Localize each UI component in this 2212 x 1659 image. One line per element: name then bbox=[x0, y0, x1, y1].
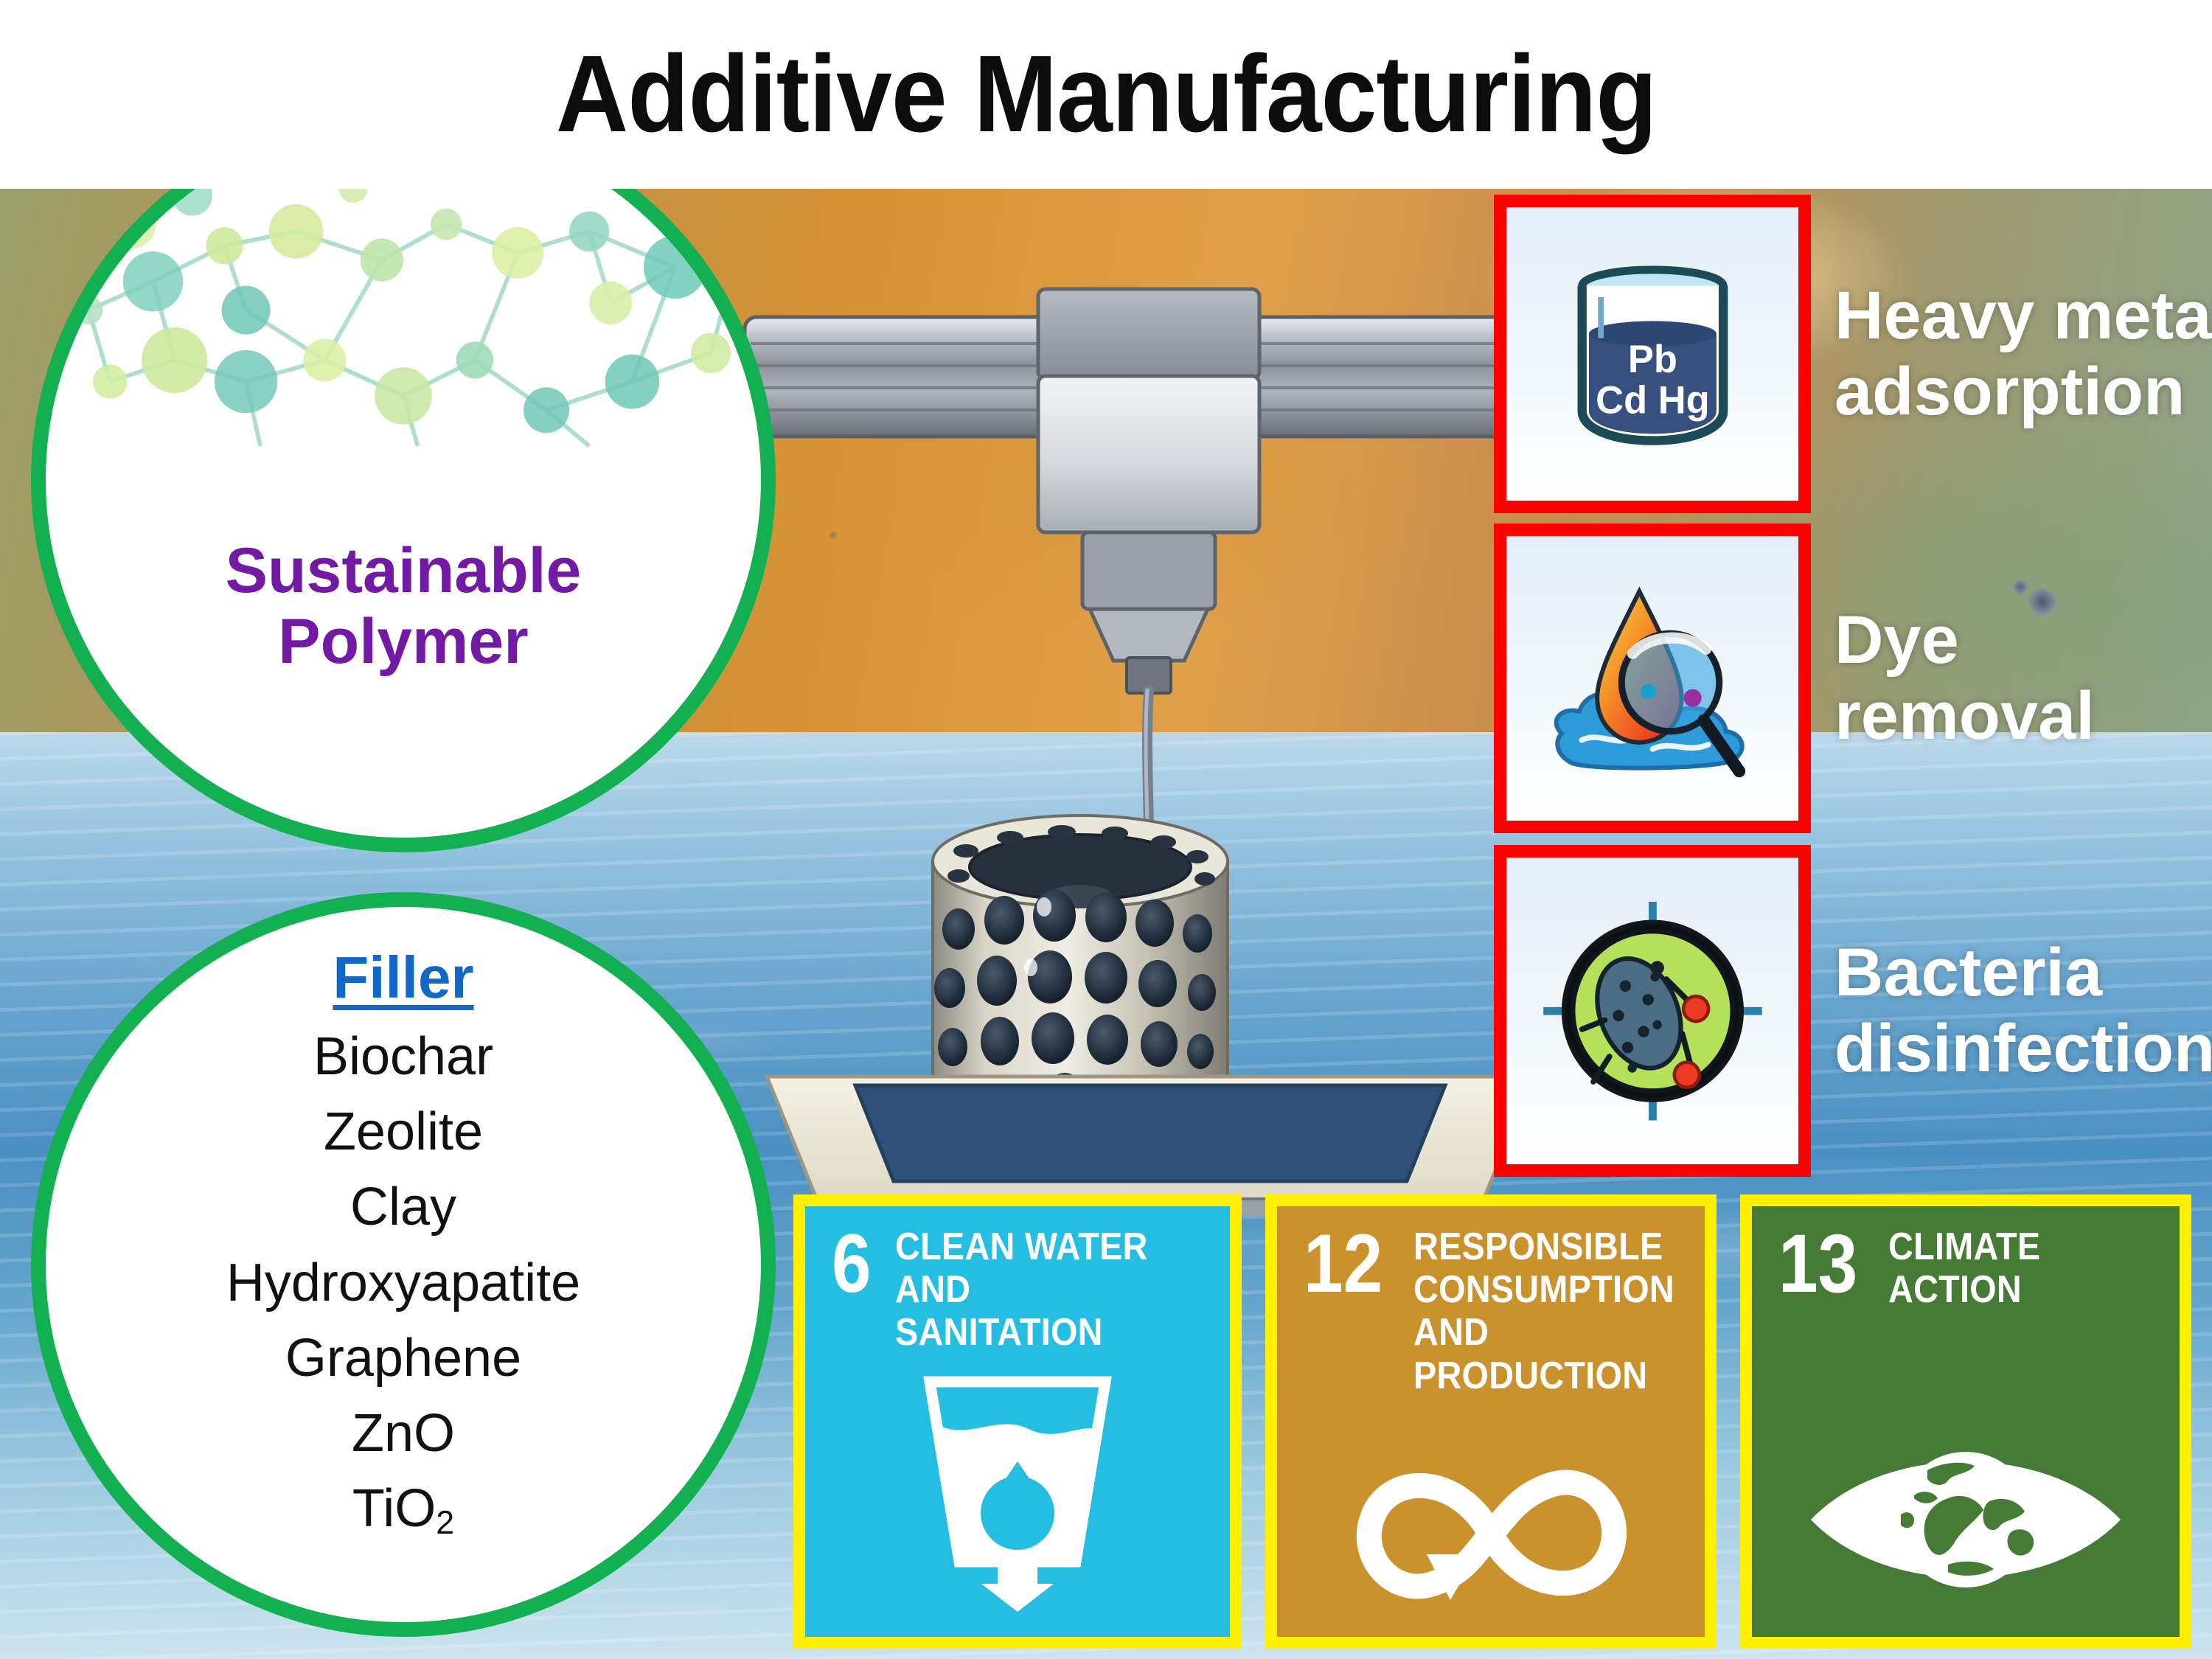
polymer-label-line1: Sustainable bbox=[226, 535, 582, 606]
sdg-6-art bbox=[805, 1368, 1230, 1612]
sdg-12-title-line1: RESPONSIBLE bbox=[1413, 1225, 1663, 1268]
printer-head bbox=[1038, 289, 1259, 693]
graphical-abstract: Additive Manufacturing bbox=[0, 0, 2212, 1659]
heavy-metal-icon-box: Pb Cd Hg bbox=[1494, 195, 1811, 513]
molecular-network-graphic bbox=[46, 145, 761, 454]
water-glass-droplet-arrow-icon bbox=[911, 1368, 1124, 1612]
filler-item: Clay bbox=[46, 1169, 761, 1245]
function-dye-removal: Dye removal bbox=[1494, 524, 2212, 833]
3d-printer-illustration bbox=[737, 243, 1563, 1217]
sdg-12-title: RESPONSIBLE CONSUMPTION AND PRODUCTION bbox=[1413, 1225, 1674, 1397]
sdg-6-header: 6 CLEAN WATER AND SANITATION bbox=[832, 1225, 1217, 1354]
sdg-13-title-line1: CLIMATE bbox=[1888, 1225, 2040, 1268]
dye-removal-label-line1: Dye bbox=[1834, 602, 1959, 678]
heavy-metal-label-line2: adsorption bbox=[1834, 354, 2185, 429]
bacteria-label: Bacteria disinfection bbox=[1834, 935, 2212, 1087]
beaker-text-pb: Pb bbox=[1627, 338, 1677, 381]
dye-removal-label: Dye removal bbox=[1834, 602, 2212, 754]
sdg-13-title-line2: ACTION bbox=[1888, 1268, 2022, 1311]
dye-removal-label-line2: removal bbox=[1834, 678, 2095, 754]
dye-droplet-magnifier-icon bbox=[1539, 567, 1767, 789]
filler-list: BiocharZeoliteClayHydroxyapatiteGraphene… bbox=[46, 1019, 761, 1547]
sdg-13-header: 13 CLIMATE ACTION bbox=[1778, 1225, 2166, 1311]
filler-item: Hydroxyapatite bbox=[46, 1245, 761, 1321]
infinity-loop-arrow-icon bbox=[1347, 1457, 1635, 1612]
sdg-13-number: 13 bbox=[1778, 1225, 1857, 1301]
sdg-badge-12[interactable]: 12 RESPONSIBLE CONSUMPTION AND PRODUCTIO… bbox=[1265, 1194, 1717, 1649]
page-title: Additive Manufacturing bbox=[556, 40, 1657, 149]
sustainable-polymer-label: Sustainable Polymer bbox=[46, 535, 761, 678]
filler-circle: Filler BiocharZeoliteClayHydroxyapatiteG… bbox=[31, 892, 776, 1637]
heavy-metal-label: Heavy metal adsorption bbox=[1834, 278, 2212, 430]
title-band: Additive Manufacturing bbox=[0, 0, 2212, 189]
bacteria-target-icon bbox=[1539, 891, 1767, 1130]
filler-item: Graphene bbox=[46, 1321, 761, 1396]
sdg-badge-6[interactable]: 6 CLEAN WATER AND SANITATION bbox=[793, 1194, 1242, 1649]
sdg-6-title-line2: AND SANITATION bbox=[895, 1268, 1103, 1354]
sdg-12-art bbox=[1277, 1457, 1705, 1612]
filler-heading: Filler bbox=[46, 944, 761, 1012]
sdg-6-title: CLEAN WATER AND SANITATION bbox=[895, 1225, 1184, 1354]
filler-item: ZnO bbox=[46, 1396, 761, 1471]
sdg-12-number: 12 bbox=[1304, 1225, 1382, 1301]
function-bacteria-disinfection: Bacteria disinfection bbox=[1494, 845, 2212, 1177]
function-heavy-metal-adsorption: Pb Cd Hg Heavy metal adsorption bbox=[1494, 195, 2212, 513]
sdg-13-title: CLIMATE ACTION bbox=[1888, 1225, 2040, 1311]
sustainable-polymer-circle: Sustainable Polymer bbox=[31, 108, 776, 852]
bacteria-label-line1: Bacteria bbox=[1834, 935, 2102, 1010]
filler-item: Zeolite bbox=[46, 1094, 761, 1169]
filler-item: Biochar bbox=[46, 1019, 761, 1094]
filler-item: TiO2 bbox=[46, 1471, 761, 1546]
sdg-6-number: 6 bbox=[832, 1225, 872, 1301]
sdg-12-title-line2: CONSUMPTION bbox=[1413, 1268, 1674, 1311]
filler-item-subscript: 2 bbox=[436, 1505, 454, 1541]
beaker-text-cdhg: Cd Hg bbox=[1596, 378, 1710, 422]
sdg-12-title-line3: AND PRODUCTION bbox=[1413, 1311, 1647, 1397]
sdg-13-art bbox=[1752, 1427, 2180, 1612]
bacteria-icon-box bbox=[1494, 845, 1811, 1177]
dye-removal-icon-box bbox=[1494, 524, 1811, 833]
sdg-6-title-line1: CLEAN WATER bbox=[895, 1225, 1148, 1268]
polymer-label-line2: Polymer bbox=[278, 606, 528, 677]
heavy-metal-label-line1: Heavy metal bbox=[1834, 278, 2212, 353]
bacteria-label-line2: disinfection bbox=[1834, 1011, 2212, 1086]
beaker-icon: Pb Cd Hg bbox=[1539, 240, 1767, 468]
sdg-12-header: 12 RESPONSIBLE CONSUMPTION AND PRODUCTIO… bbox=[1304, 1225, 1691, 1397]
sdg-badge-13[interactable]: 13 CLIMATE ACTION bbox=[1740, 1194, 2191, 1649]
eye-globe-icon bbox=[1804, 1427, 2128, 1612]
